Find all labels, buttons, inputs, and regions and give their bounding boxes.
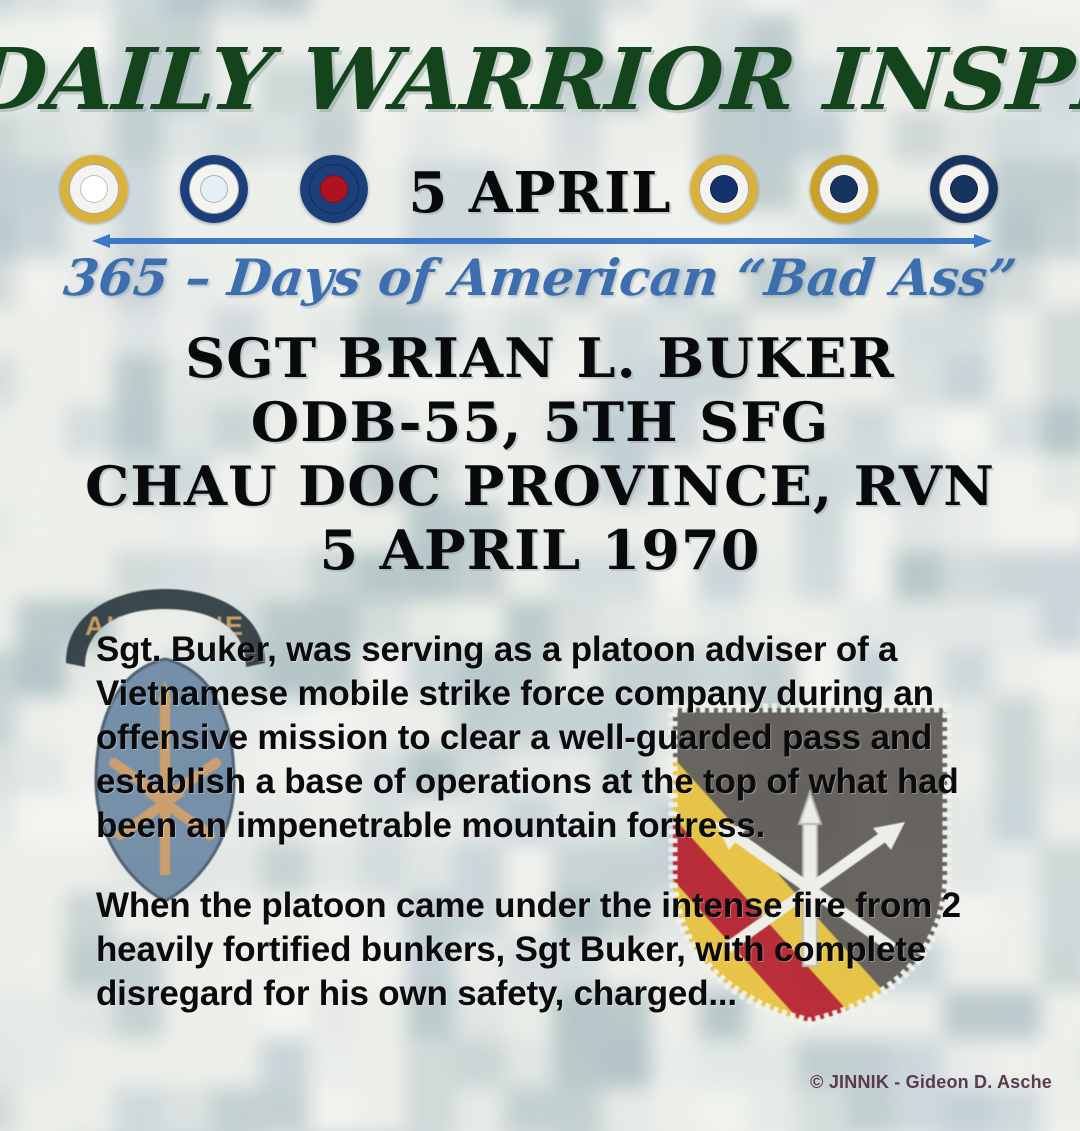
series-subtitle: 365 – Days of American “Bad Ass” <box>0 248 1080 307</box>
story-body: Sgt. Buker, was serving as a platoon adv… <box>96 628 1028 1016</box>
honoree-line-1: SGT BRIAN L. BUKER <box>0 326 1080 390</box>
double-arrow-divider <box>92 233 992 249</box>
poster-canvas: DAILY WARRIOR INSPIRATION 5 APRIL 365 – … <box>0 0 1080 1131</box>
copyright-notice: © JINNIK - Gideon D. Asche <box>810 1072 1052 1093</box>
page-title: DAILY WARRIOR INSPIRATION <box>0 38 1080 123</box>
story-paragraph-1: Sgt. Buker, was serving as a platoon adv… <box>96 628 1028 848</box>
story-paragraph-2: When the platoon came under the intense … <box>96 884 1028 1016</box>
honoree-line-2: ODB-55, 5TH SFG <box>0 390 1080 454</box>
title-container: DAILY WARRIOR INSPIRATION <box>0 38 1080 123</box>
honoree-name-block: SGT BRIAN L. BUKERODB-55, 5TH SFGCHAU DO… <box>0 326 1080 582</box>
honoree-line-4: 5 APRIL 1970 <box>0 518 1080 582</box>
honoree-line-3: CHAU DOC PROVINCE, RVN <box>0 454 1080 518</box>
date-heading: 5 APRIL <box>0 160 1080 226</box>
